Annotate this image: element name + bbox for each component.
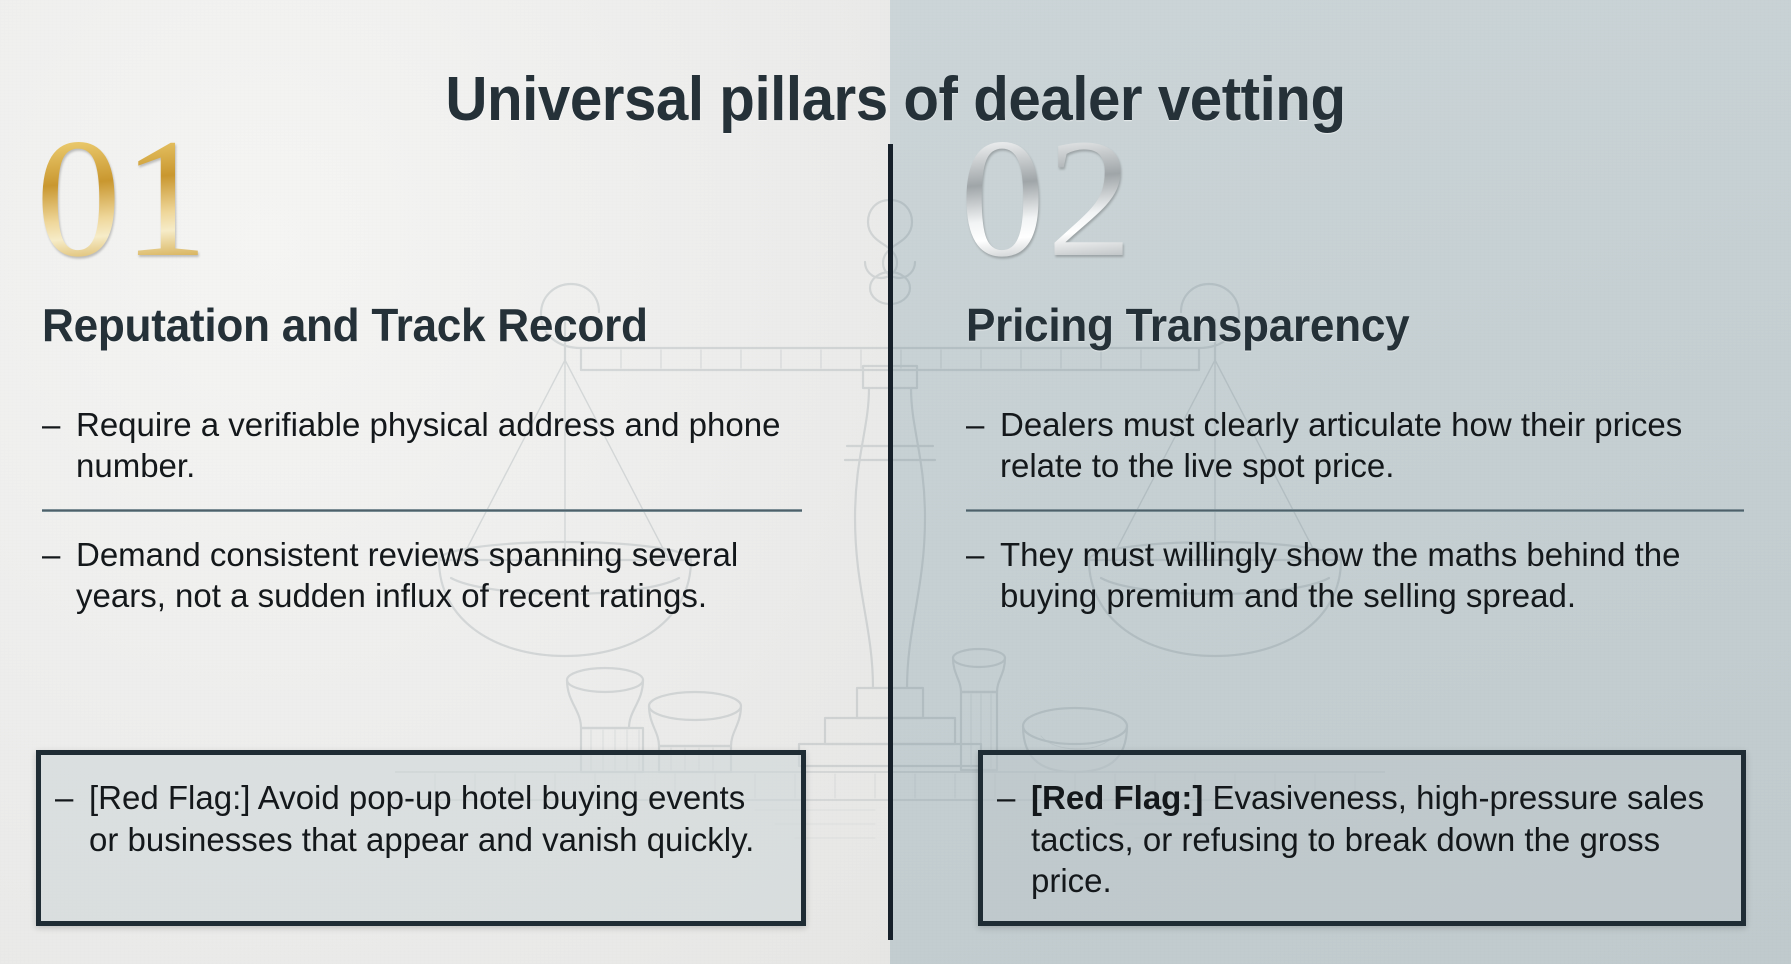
pillar-column-02: 02 Pricing Transparency – Dealers must c… bbox=[960, 118, 1750, 617]
slide-root: Universal pillars of dealer vetting 01 R… bbox=[0, 0, 1791, 964]
bullet-text: Demand consistent reviews spanning sever… bbox=[76, 534, 808, 617]
bullet-separator bbox=[966, 509, 1744, 512]
bullet-text: Require a verifiable physical address an… bbox=[76, 404, 808, 487]
pillar-heading-01: Reputation and Track Record bbox=[42, 298, 777, 352]
red-flag-box-01: – [Red Flag:] Avoid pop-up hotel buying … bbox=[36, 750, 806, 926]
column-divider bbox=[888, 144, 893, 940]
list-item: – [Red Flag:] Avoid pop-up hotel buying … bbox=[41, 755, 801, 860]
red-flag-text: [Red Flag:] Evasiveness, high-pressure s… bbox=[1031, 777, 1723, 902]
bullet-dash-icon: – bbox=[966, 534, 1000, 617]
list-item: – Dealers must clearly articulate how th… bbox=[966, 404, 1750, 487]
bullet-dash-icon: – bbox=[42, 404, 76, 487]
red-flag-label: [Red Flag:] bbox=[89, 779, 250, 816]
bullet-separator bbox=[42, 509, 802, 512]
list-item: – Require a verifiable physical address … bbox=[42, 404, 808, 487]
pillar-heading-02: Pricing Transparency bbox=[966, 298, 1719, 352]
bullet-dash-icon: – bbox=[42, 534, 76, 617]
bullet-dash-icon: – bbox=[966, 404, 1000, 487]
pillar-number-01: 01 bbox=[36, 118, 808, 280]
list-item: – They must willingly show the maths beh… bbox=[966, 534, 1750, 617]
list-item: – Demand consistent reviews spanning sev… bbox=[42, 534, 808, 617]
red-flag-label: [Red Flag:] bbox=[1031, 779, 1203, 816]
red-flag-text: [Red Flag:] Avoid pop-up hotel buying ev… bbox=[89, 777, 783, 860]
bullet-list-02: – Dealers must clearly articulate how th… bbox=[960, 404, 1750, 617]
bullet-list-01: – Require a verifiable physical address … bbox=[36, 404, 808, 617]
bullet-text: Dealers must clearly articulate how thei… bbox=[1000, 404, 1750, 487]
pillar-column-01: 01 Reputation and Track Record – Require… bbox=[36, 118, 808, 617]
pillar-number-02: 02 bbox=[960, 118, 1750, 280]
list-item: – [Red Flag:] Evasiveness, high-pressure… bbox=[983, 755, 1741, 902]
bullet-text: They must willingly show the maths behin… bbox=[1000, 534, 1750, 617]
bullet-dash-icon: – bbox=[55, 777, 89, 860]
bullet-dash-icon: – bbox=[997, 777, 1031, 902]
red-flag-box-02: – [Red Flag:] Evasiveness, high-pressure… bbox=[978, 750, 1746, 926]
